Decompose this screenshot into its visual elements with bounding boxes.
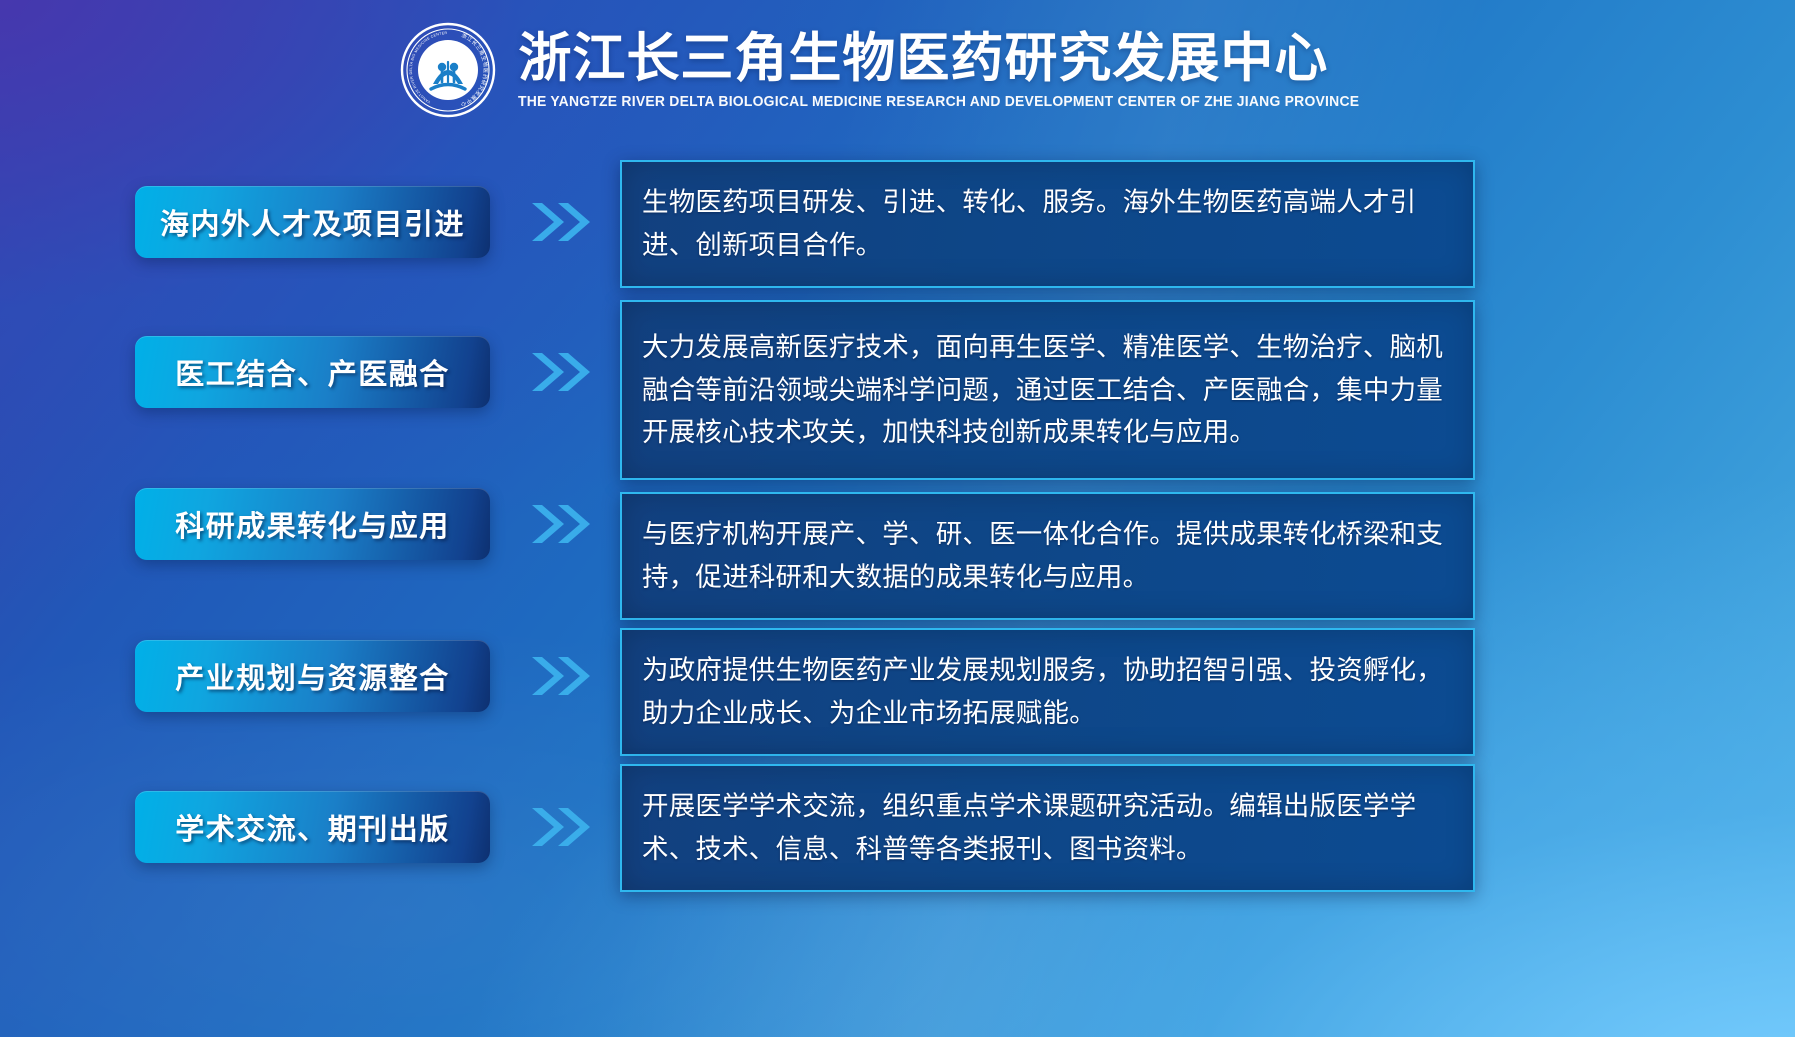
double-chevron-right-icon-3 — [528, 495, 598, 553]
content-panel-4: 为政府提供生物医药产业发展规划服务，协助招智引强、投资孵化，助力企业成长、为企业… — [620, 628, 1475, 756]
content-panel-2-text: 大力发展高新医疗技术，面向再生医学、精准医学、生物治疗、脑机融合等前沿领域尖端科… — [642, 326, 1447, 455]
content-panel-5-text: 开展医学学术交流，组织重点学术课题研究活动。编辑出版医学学术、技术、信息、科普等… — [642, 785, 1447, 871]
page-header: 浙江长三角生物医药研究发展中心 YANGTZE RIVER DELTA BIO … — [0, 22, 1795, 118]
double-chevron-right-icon-5 — [528, 798, 598, 856]
category-pill-3[interactable]: 科研成果转化与应用 — [135, 488, 490, 560]
category-pill-4-label: 产业规划与资源整合 — [175, 655, 450, 697]
page-subtitle: THE YANGTZE RIVER DELTA BIOLOGICAL MEDIC… — [518, 94, 1359, 110]
category-pill-2[interactable]: 医工结合、产医融合 — [135, 336, 490, 408]
category-pill-3-label: 科研成果转化与应用 — [175, 503, 450, 545]
content-panel-1-text: 生物医药项目研发、引进、转化、服务。海外生物医药高端人才引进、创新项目合作。 — [642, 181, 1447, 267]
content-panel-2: 大力发展高新医疗技术，面向再生医学、精准医学、生物治疗、脑机融合等前沿领域尖端科… — [620, 300, 1475, 480]
content-panel-3: 与医疗机构开展产、学、研、医一体化合作。提供成果转化桥梁和支持，促进科研和大数据… — [620, 492, 1475, 620]
category-pill-1[interactable]: 海内外人才及项目引进 — [135, 186, 490, 258]
content-panel-3-text: 与医疗机构开展产、学、研、医一体化合作。提供成果转化桥梁和支持，促进科研和大数据… — [642, 513, 1447, 599]
content-panel-1: 生物医药项目研发、引进、转化、服务。海外生物医药高端人才引进、创新项目合作。 — [620, 160, 1475, 288]
category-pill-4[interactable]: 产业规划与资源整合 — [135, 640, 490, 712]
double-chevron-right-icon-4 — [528, 647, 598, 705]
category-pill-2-label: 医工结合、产医融合 — [175, 351, 450, 393]
content-panel-4-text: 为政府提供生物医药产业发展规划服务，协助招智引强、投资孵化，助力企业成长、为企业… — [642, 649, 1447, 735]
page-title: 浙江长三角生物医药研究发展中心 — [518, 30, 1394, 87]
category-pill-1-label: 海内外人才及项目引进 — [160, 201, 465, 243]
title-block: 浙江长三角生物医药研究发展中心 THE YANGTZE RIVER DELTA … — [518, 30, 1394, 110]
category-pill-5-label: 学术交流、期刊出版 — [175, 806, 450, 848]
category-pill-5[interactable]: 学术交流、期刊出版 — [135, 791, 490, 863]
circular-emblem-logo-icon: 浙江长三角生物医药研究发展中心 YANGTZE RIVER DELTA BIO … — [400, 22, 496, 118]
content-panel-5: 开展医学学术交流，组织重点学术课题研究活动。编辑出版医学学术、技术、信息、科普等… — [620, 764, 1475, 892]
double-chevron-right-icon-1 — [528, 193, 598, 251]
double-chevron-right-icon-2 — [528, 343, 598, 401]
